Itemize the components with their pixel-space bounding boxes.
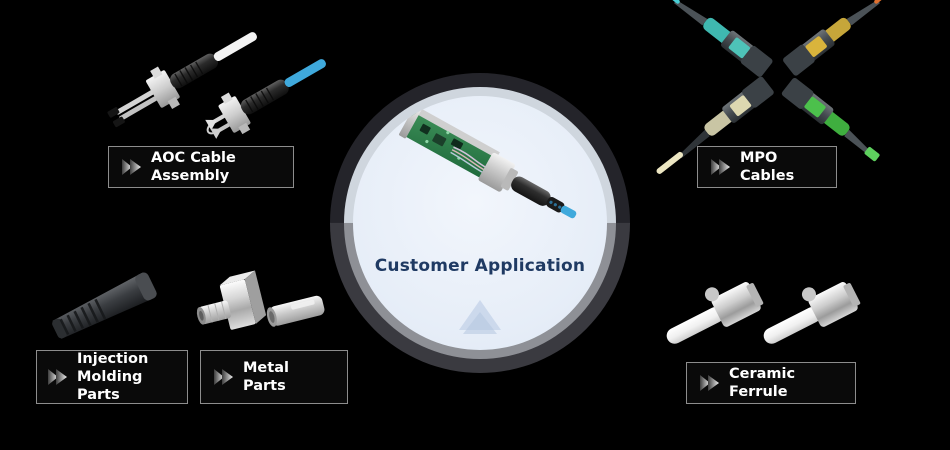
- label-text: Ceramic Ferrule: [729, 365, 843, 401]
- product-image-mpo-cables: [665, 12, 890, 142]
- label-text: Metal Parts: [243, 359, 335, 395]
- customer-application-hub[interactable]: Customer Application: [330, 73, 630, 373]
- product-image-injection-molding-parts: [35, 258, 185, 346]
- product-image-ceramic-ferrule: [655, 268, 865, 358]
- arrow-right-icon: [47, 367, 69, 387]
- label-text: Injection Molding Parts: [77, 350, 177, 404]
- arrow-right-icon: [699, 373, 721, 393]
- product-image-aoc-cable-assembly: [95, 22, 340, 137]
- hub-inner-ring: Customer Application: [344, 87, 616, 359]
- hub-title: Customer Application: [353, 256, 607, 276]
- infographic-canvas: Customer Application: [0, 0, 950, 450]
- label-ceramic-ferrule[interactable]: Ceramic Ferrule: [686, 362, 856, 404]
- label-injection-molding-parts[interactable]: Injection Molding Parts: [36, 350, 188, 404]
- label-mpo-cables[interactable]: MPO Cables: [697, 146, 837, 188]
- double-chevron-up-icon: [457, 296, 503, 338]
- arrow-right-icon: [710, 157, 732, 177]
- label-aoc-cable-assembly[interactable]: AOC Cable Assembly: [108, 146, 294, 188]
- arrow-right-icon: [121, 157, 143, 177]
- label-metal-parts[interactable]: Metal Parts: [200, 350, 348, 404]
- hub-face: Customer Application: [353, 96, 607, 350]
- label-text: AOC Cable Assembly: [151, 149, 281, 185]
- arrow-right-icon: [213, 367, 235, 387]
- product-image-metal-parts: [192, 272, 332, 344]
- hub-product-image: [383, 114, 578, 229]
- label-text: MPO Cables: [740, 149, 824, 185]
